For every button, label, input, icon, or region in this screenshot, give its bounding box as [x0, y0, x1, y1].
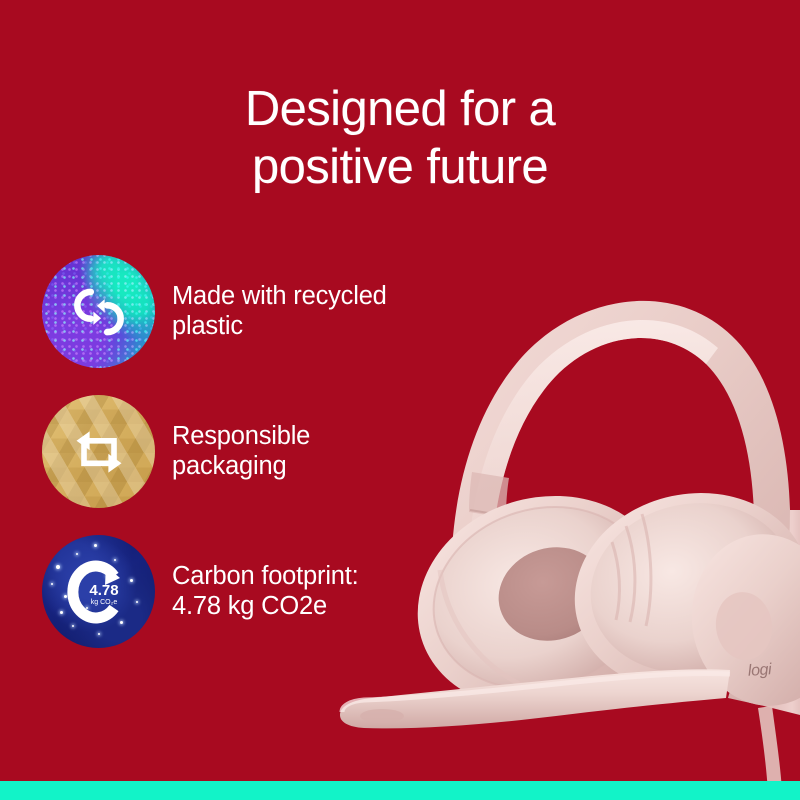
carbon-c-icon: 4.78 kg CO₂e — [42, 535, 155, 648]
bottom-accent-bar — [0, 781, 800, 800]
headline-line-1: Designed for a — [0, 80, 800, 138]
feature-line-1: Carbon footprint: — [172, 561, 472, 591]
recycle-arrows-icon — [42, 255, 155, 368]
feature-line-2: 4.78 kg CO2e — [172, 591, 472, 621]
headband-seam — [469, 472, 509, 518]
feature-text-responsible-packaging: Responsible packaging — [172, 421, 472, 481]
feature-text-carbon-footprint: Carbon footprint: 4.78 kg CO2e — [172, 561, 472, 621]
headband-arc — [451, 301, 790, 710]
headline-line-2: positive future — [0, 138, 800, 196]
right-cup-outer-shell — [681, 525, 800, 716]
carbon-value-text: 4.78 — [89, 582, 118, 599]
headband-highlight — [467, 320, 718, 702]
feature-responsible-packaging: Responsible packaging — [42, 395, 472, 535]
feature-line-2: plastic — [172, 311, 472, 341]
feature-line-2: packaging — [172, 451, 472, 481]
page-title: Designed for a positive future — [0, 80, 800, 196]
sustainability-feature-list: Made with recycled plastic — [42, 255, 472, 675]
headset-cable — [758, 706, 782, 792]
carbon-unit-text: kg CO₂e — [90, 599, 117, 606]
feature-line-1: Made with recycled — [172, 281, 472, 311]
logi-brand-mark: logi — [747, 661, 772, 681]
feature-line-1: Responsible — [172, 421, 472, 451]
recycled-plastic-badge — [42, 255, 155, 368]
feature-text-recycled-plastic: Made with recycled plastic — [172, 281, 472, 341]
feature-carbon-footprint: 4.78 kg CO₂e Carbon footprint: 4.78 kg C… — [42, 535, 472, 675]
mic-capsule — [360, 709, 404, 723]
carbon-footprint-badge: 4.78 kg CO₂e — [42, 535, 155, 648]
boom-microphone — [340, 669, 730, 728]
right-arm — [764, 510, 800, 720]
responsible-packaging-badge — [42, 395, 155, 508]
packaging-recycle-square-icon — [42, 395, 155, 508]
sustainability-banner: logi Designed for a positive future — [0, 0, 800, 800]
feature-recycled-plastic: Made with recycled plastic — [42, 255, 472, 395]
